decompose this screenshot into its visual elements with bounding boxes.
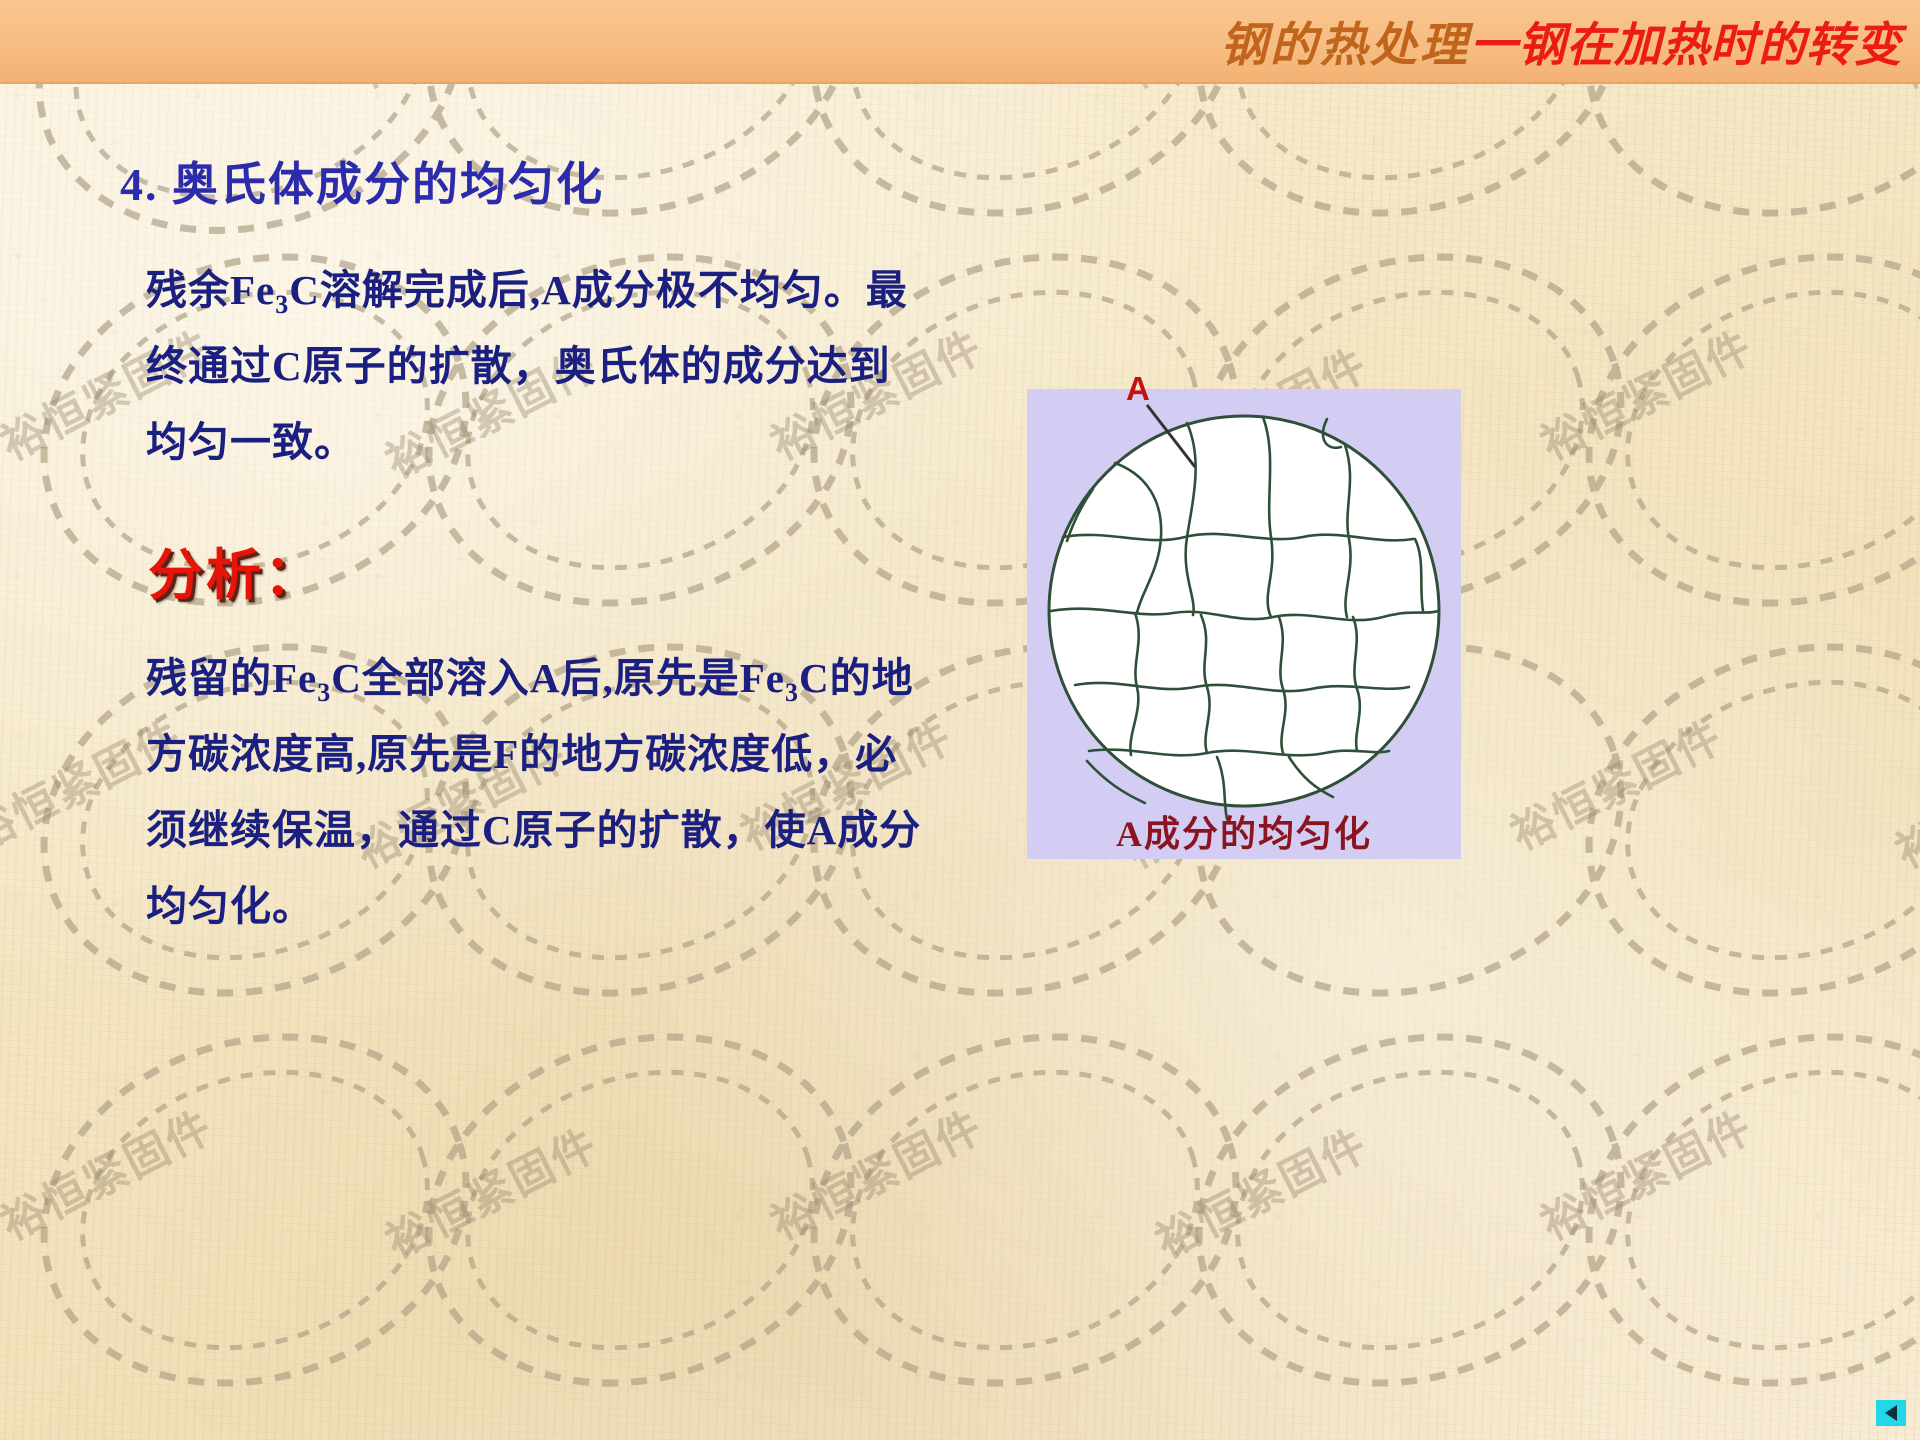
grain-structure-diagram <box>1027 389 1461 859</box>
figure-caption: A成分的均匀化 <box>1027 805 1461 857</box>
header-title-part2: 一钢在加热时的转变 <box>1470 20 1902 72</box>
header-title-part1: 钢的热处理 <box>1220 20 1470 72</box>
paragraph-analysis-line-4: 均匀化。 <box>146 868 966 944</box>
paragraph-intro-line-2: 终通过C原子的扩散，奥氏体的成分达到 <box>146 328 946 404</box>
paragraph-intro: 残余Fe3C溶解完成后,A成分极不均匀。最 终通过C原子的扩散，奥氏体的成分达到… <box>146 252 946 480</box>
next-slide-button[interactable] <box>1876 1400 1906 1426</box>
header-title: 钢的热处理一钢在加热时的转变 <box>1220 6 1902 75</box>
analysis-heading: 分析： <box>148 530 322 610</box>
label-austenite: A <box>1126 370 1150 408</box>
page-title: 4. 奥氏体成分的均匀化 <box>120 148 604 214</box>
microstructure-figure <box>1027 389 1461 859</box>
header-bar: 钢的热处理一钢在加热时的转变 <box>0 0 1920 84</box>
paragraph-intro-line-1: 残余Fe3C溶解完成后,A成分极不均匀。最 <box>146 252 946 328</box>
paragraph-intro-line-3: 均匀一致。 <box>146 404 946 480</box>
paragraph-analysis-line-3: 须继续保温，通过C原子的扩散，使A成分 <box>146 792 966 868</box>
paragraph-analysis-line-1: 残留的Fe3C全部溶入A后,原先是Fe3C的地 <box>146 640 966 716</box>
paragraph-analysis: 残留的Fe3C全部溶入A后,原先是Fe3C的地 方碳浓度高,原先是F的地方碳浓度… <box>146 640 966 944</box>
play-triangle-icon <box>1885 1405 1897 1421</box>
paragraph-analysis-line-2: 方碳浓度高,原先是F的地方碳浓度低，必 <box>146 716 966 792</box>
